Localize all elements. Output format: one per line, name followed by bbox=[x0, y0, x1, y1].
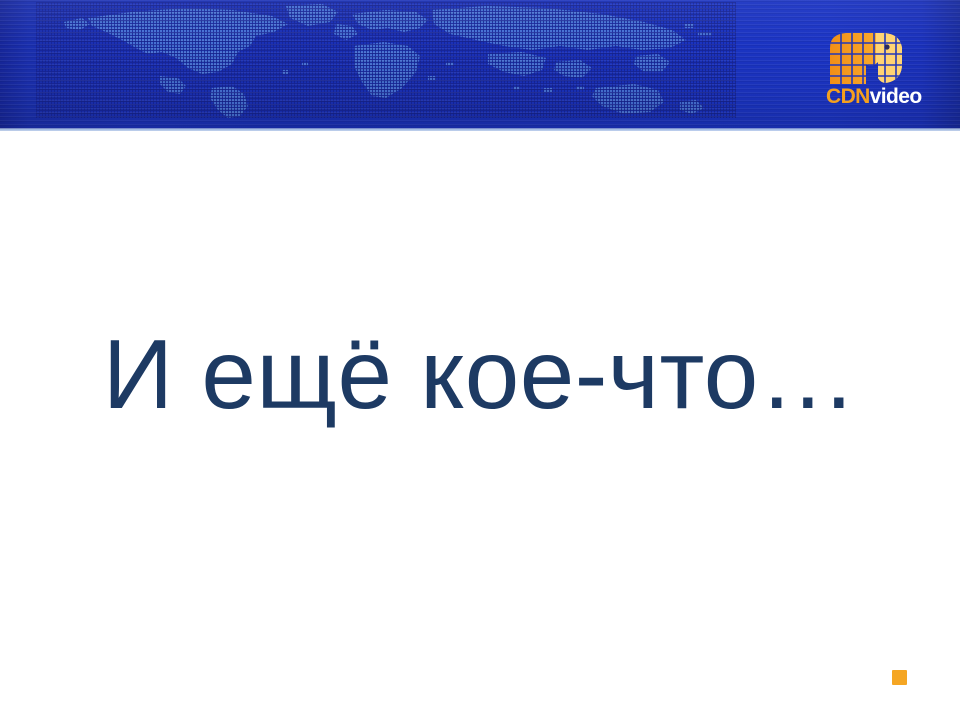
cdnvideo-logo: CDNvideo bbox=[824, 28, 912, 112]
slide-header-banner: CDNvideo bbox=[0, 0, 960, 131]
cdnvideo-wordmark: CDNvideo bbox=[826, 86, 914, 108]
presentation-slide: CDNvideo И ещё кое-что… bbox=[0, 0, 960, 720]
wordmark-cdn: CDN bbox=[826, 85, 870, 108]
world-map-dotted-icon bbox=[36, 2, 736, 118]
wordmark-video: video bbox=[870, 85, 922, 108]
cdnvideo-elephant-logo-icon bbox=[824, 28, 912, 86]
header-bottom-edge-line bbox=[0, 128, 960, 131]
orange-square-bullet-icon bbox=[892, 670, 907, 685]
slide-title: И ещё кое-что… bbox=[0, 318, 960, 430]
